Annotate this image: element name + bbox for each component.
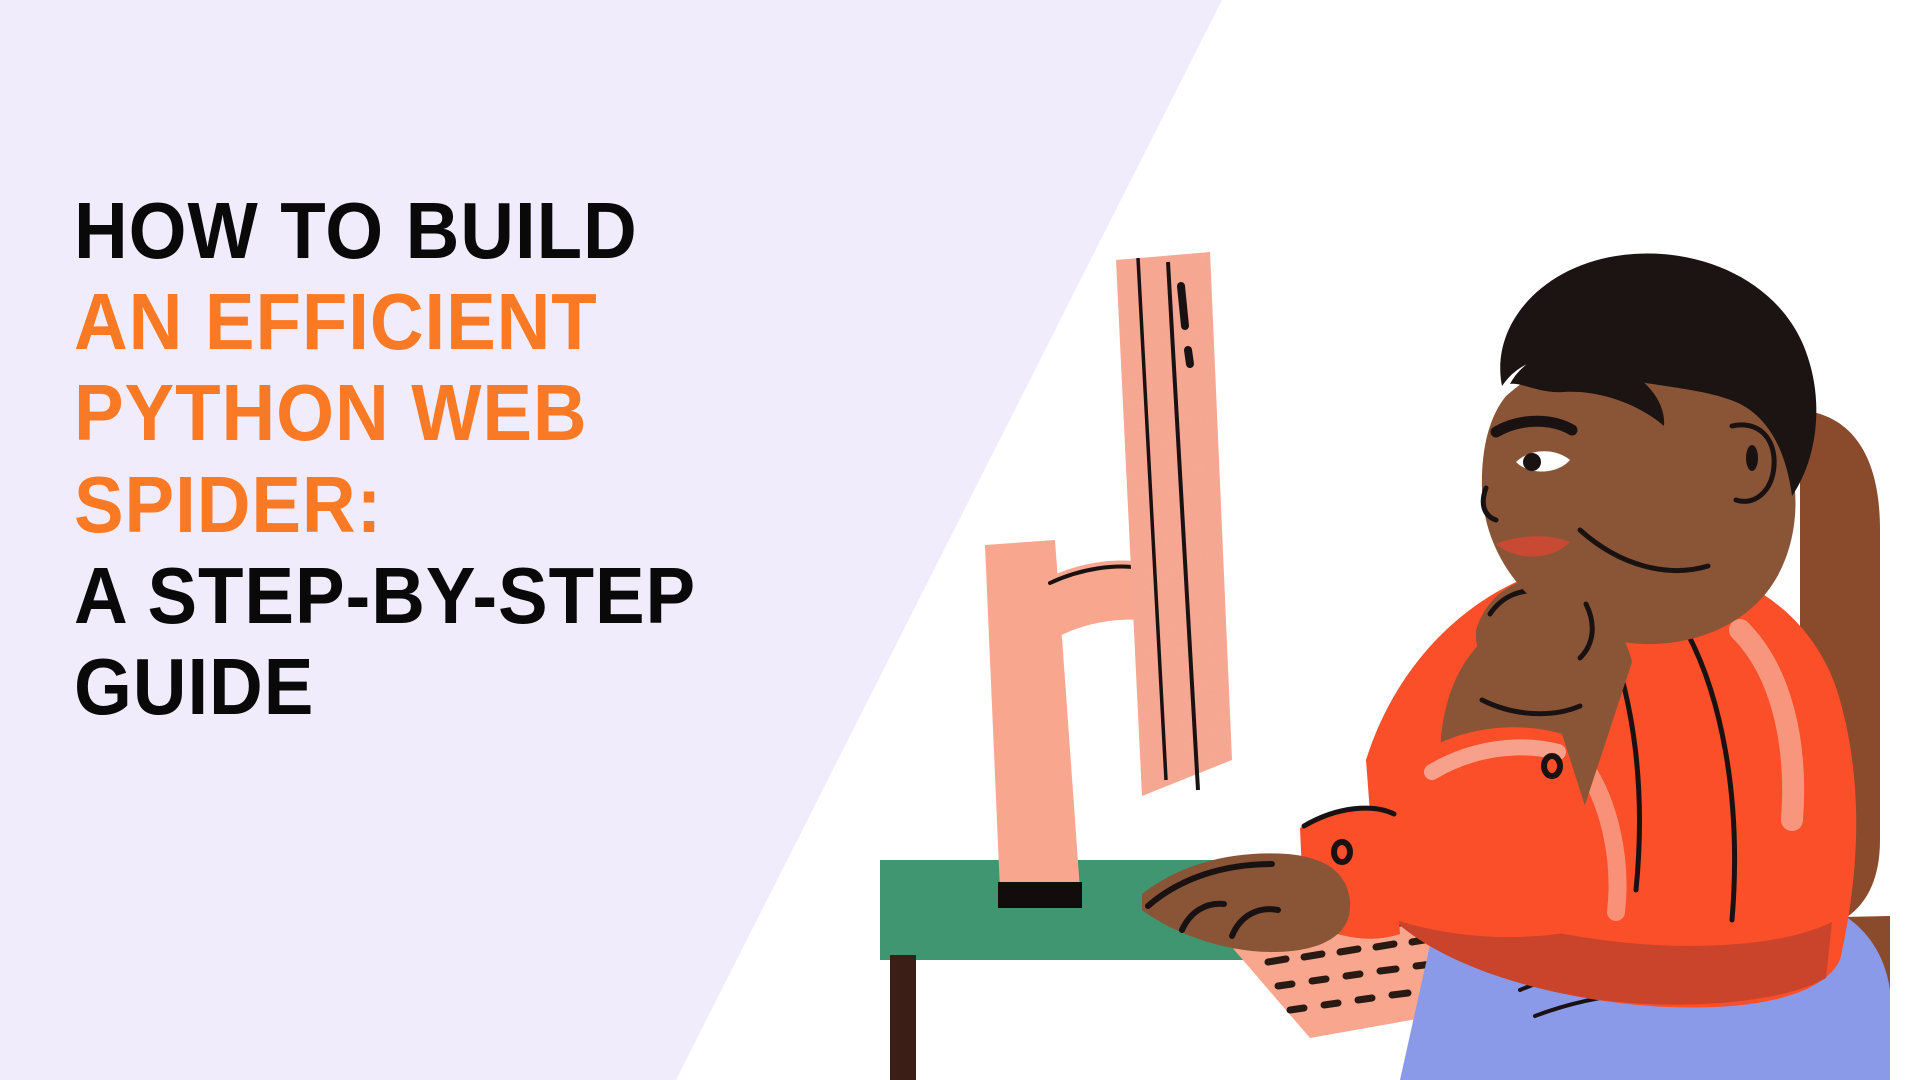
headline-line-6: GUIDE (74, 641, 958, 732)
headline-line-3: PYTHON WEB (74, 367, 958, 458)
desk-leg-left (890, 955, 916, 1080)
headline-line-4: SPIDER: (74, 459, 958, 550)
person-ear-inner (1746, 445, 1758, 471)
headline-line-2: AN EFFICIENT (74, 276, 958, 367)
monitor-power-dot-icon (1188, 350, 1190, 364)
monitor-group (985, 252, 1232, 908)
monitor-arm (1048, 561, 1142, 640)
monitor-port-slot-icon (1181, 286, 1185, 326)
headline-line-5: A STEP-BY-STEP (74, 550, 958, 641)
monitor-base (998, 882, 1082, 908)
headline-line-1: HOW TO BUILD (74, 185, 958, 276)
hero-illustration (880, 200, 1920, 1080)
blog-header-banner: HOW TO BUILD AN EFFICIENT PYTHON WEB SPI… (0, 0, 1920, 1080)
